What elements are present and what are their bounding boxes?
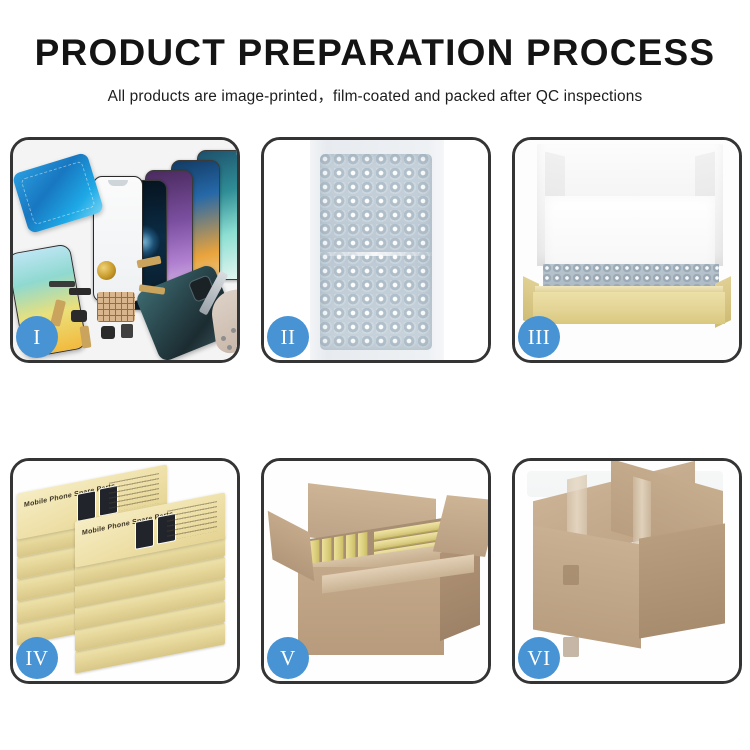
step-panel-2: II [261,137,491,363]
page-title: PRODUCT PREPARATION PROCESS [0,34,750,73]
step-badge-1: I [16,316,58,358]
step-panel-3: III [512,137,742,363]
step-badge-3: III [518,316,560,358]
page-subtitle: All products are image-printed，film-coat… [0,84,750,106]
step-panel-5: V [261,458,491,684]
page-header: PRODUCT PREPARATION PROCESS All products… [0,0,750,106]
step-panel-6: VI [512,458,742,684]
step-badge-2: II [267,316,309,358]
step-badge-5: V [267,637,309,679]
step-badge-4: IV [16,637,58,679]
step-panel-1: I [10,137,240,363]
step-panel-4: Mobile Phone Spare Parts Mobile Phone Sp… [10,458,240,684]
step-badge-6: VI [518,637,560,679]
process-steps-grid: I II III [10,137,742,684]
